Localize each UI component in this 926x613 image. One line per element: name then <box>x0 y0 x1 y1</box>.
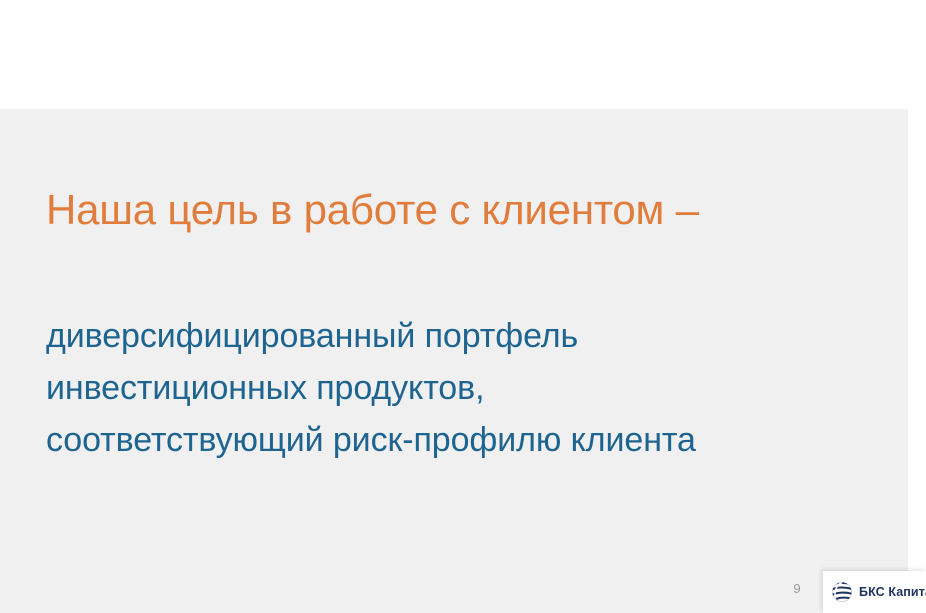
brand-logo: БКС Капитал <box>823 571 926 613</box>
globe-swirl-icon <box>831 581 853 603</box>
slide-right-margin-strip <box>908 109 926 613</box>
body-line: соответствующий риск-профилю клиента <box>46 414 876 466</box>
brand-logo-text: БКС Капитал <box>859 585 926 599</box>
slide-title: Наша цель в работе с клиентом – <box>46 186 866 234</box>
slide-body-text: диверсифицированный портфель инвестицион… <box>46 310 876 466</box>
slide-canvas: Наша цель в работе с клиентом – диверсиф… <box>0 0 926 613</box>
body-line: диверсифицированный портфель <box>46 310 876 362</box>
page-number: 9 <box>786 581 808 596</box>
slide-header-band <box>0 0 926 109</box>
body-line: инвестиционных продуктов, <box>46 362 876 414</box>
